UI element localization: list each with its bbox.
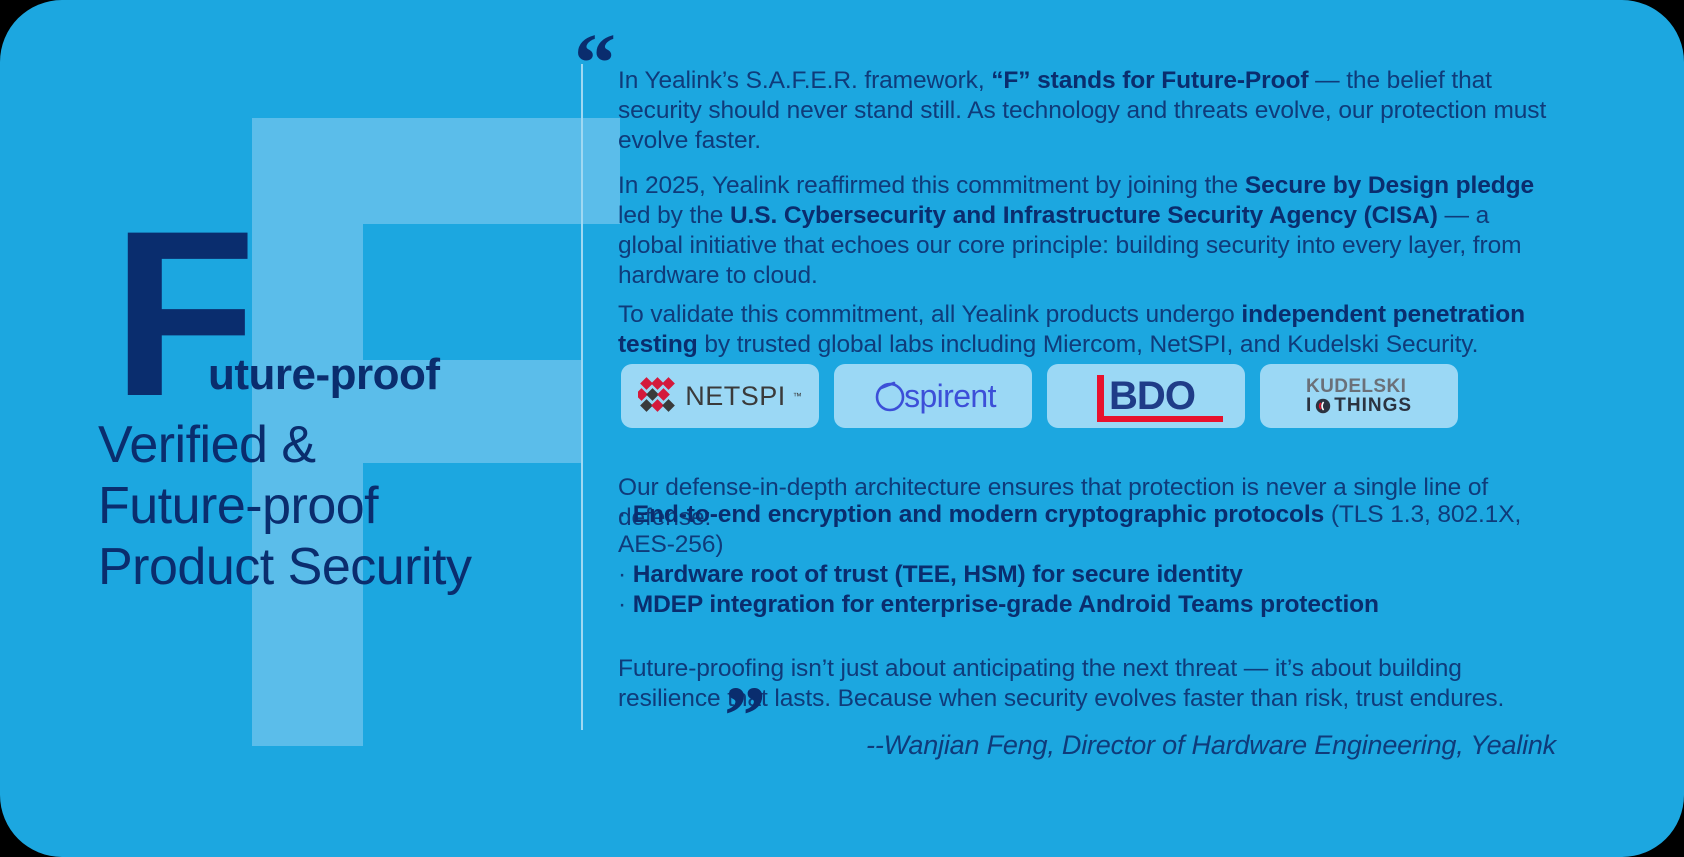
netspi-logo: NETSPI™ bbox=[638, 377, 802, 415]
logo-box-netspi: NETSPI™ bbox=[621, 364, 819, 428]
netspi-wordmark: NETSPI bbox=[685, 381, 786, 412]
bullet-marker-icon: · bbox=[618, 501, 626, 528]
bdo-logo: BDO bbox=[1097, 375, 1195, 417]
open-quote-icon: “ bbox=[574, 22, 616, 106]
paragraph-3: To validate this commitment, all Yealink… bbox=[618, 300, 1556, 360]
bullet-marker-icon: · bbox=[618, 561, 626, 588]
bullet-bold-text: MDEP integration for enterprise-grade An… bbox=[633, 591, 1379, 618]
p3-pre: To validate this commitment, all Yealink… bbox=[618, 301, 1241, 328]
bullet-marker-icon: · bbox=[618, 591, 626, 618]
kudelski-wordmark-line-1: KUDELSKI bbox=[1306, 376, 1406, 397]
bdo-red-bar-icon bbox=[1097, 375, 1104, 417]
kudelski-things-word: THINGS bbox=[1334, 396, 1412, 415]
word-mark-future-proof: uture-proof bbox=[208, 350, 440, 400]
logo-box-bdo: BDO bbox=[1047, 364, 1245, 428]
kudelski-iot-signal-icon bbox=[1315, 398, 1331, 414]
p3-post: by trusted global labs including Miercom… bbox=[698, 331, 1479, 358]
paragraph-1: In Yealink’s S.A.F.E.R. framework, “F” s… bbox=[618, 66, 1556, 156]
p2-bold-2: U.S. Cybersecurity and Infrastructure Se… bbox=[730, 202, 1438, 229]
list-item: · Hardware root of trust (TEE, HSM) for … bbox=[618, 560, 1556, 590]
kudelski-logo: KUDELSKI I THINGS bbox=[1306, 377, 1412, 416]
quote-attribution: --Wanjian Feng, Director of Hardware Eng… bbox=[618, 730, 1556, 761]
logo-box-spirent: spirent bbox=[834, 364, 1032, 428]
logo-box-kudelski: KUDELSKI I THINGS bbox=[1260, 364, 1458, 428]
bullet-bold-text: End-to-end encryption and modern cryptog… bbox=[633, 501, 1324, 528]
list-item: · MDEP integration for enterprise-grade … bbox=[618, 590, 1556, 620]
vertical-divider bbox=[581, 64, 583, 730]
bullet-bold-text: Hardware root of trust (TEE, HSM) for se… bbox=[633, 561, 1243, 588]
right-panel: “ In Yealink’s S.A.F.E.R. framework, “F”… bbox=[618, 0, 1648, 857]
bdo-red-underline-icon bbox=[1097, 416, 1223, 422]
feature-bullet-list: · End-to-end encryption and modern crypt… bbox=[618, 500, 1556, 620]
kudelski-wordmark-line-2: I THINGS bbox=[1306, 396, 1412, 415]
kudelski-i-letter: I bbox=[1306, 396, 1312, 415]
list-item: · End-to-end encryption and modern crypt… bbox=[618, 500, 1556, 560]
p1-pre: In Yealink’s S.A.F.E.R. framework, bbox=[618, 67, 991, 94]
left-panel: F uture-proof Verified & Future-proof Pr… bbox=[0, 0, 582, 857]
paragraph-2: In 2025, Yealink reaffirmed this commitm… bbox=[618, 171, 1556, 291]
bdo-wordmark: BDO bbox=[1109, 377, 1195, 415]
quote-card: F uture-proof Verified & Future-proof Pr… bbox=[0, 0, 1684, 857]
page-title-line-2: Future-proof bbox=[98, 476, 568, 537]
page-title-line-1: Verified & bbox=[98, 415, 568, 476]
p2-mid: led by the bbox=[618, 202, 730, 229]
watermark-f-top-arm bbox=[252, 118, 620, 224]
netspi-trademark-icon: ™ bbox=[793, 391, 802, 401]
page-title: Verified & Future-proof Product Security bbox=[98, 415, 568, 597]
p1-bold: “F” stands for Future-Proof bbox=[991, 67, 1308, 94]
spirent-logo: spirent bbox=[870, 376, 996, 416]
p2-bold-1: Secure by Design pledge bbox=[1245, 172, 1534, 199]
partner-logo-strip: NETSPI™ spirent BDO bbox=[621, 364, 1458, 428]
p2-pre: In 2025, Yealink reaffirmed this commitm… bbox=[618, 172, 1245, 199]
spirent-wordmark: spirent bbox=[904, 378, 996, 415]
page-title-line-3: Product Security bbox=[98, 537, 568, 598]
netspi-diamond-icon bbox=[638, 377, 678, 415]
